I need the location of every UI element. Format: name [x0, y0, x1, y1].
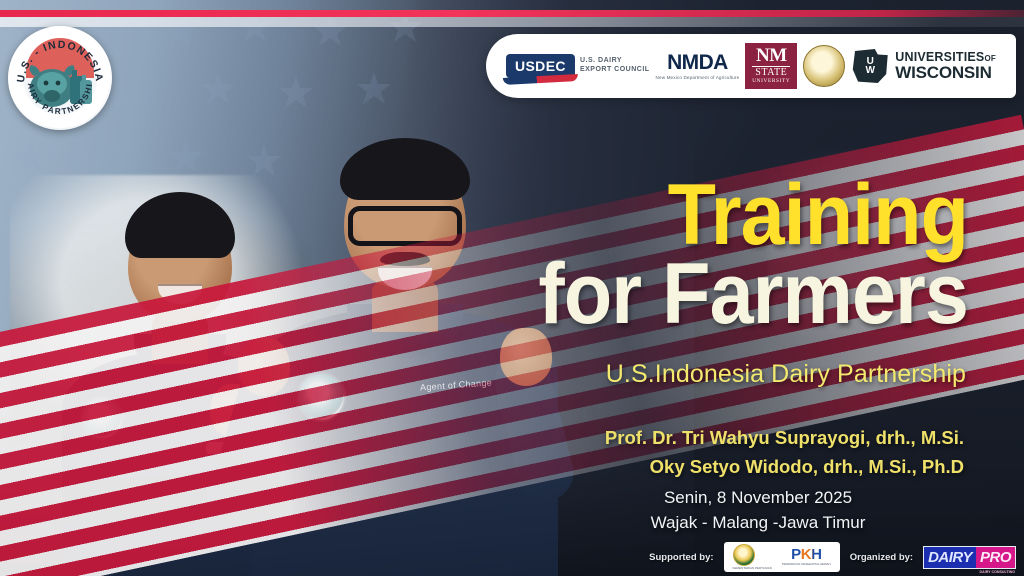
usdec-mark: USDEC — [506, 54, 575, 78]
title-line-1: Training — [490, 176, 968, 255]
partner-logo-bar: USDEC U.S. DAIRY EXPORT COUNCIL NMDA New… — [486, 34, 1016, 98]
kementerian-pertanian-seal: KEMENTERIAN PERTANIAN — [733, 544, 772, 570]
new-mexico-state-seal — [803, 45, 845, 87]
uw-wordmark: UNIVERSITIESOF WISCONSIN — [895, 51, 996, 81]
supported-by-label: Supported by: — [649, 552, 713, 563]
nmsu-line2: STATE — [752, 66, 790, 78]
speaker-name-2: Oky Setyo Widodo, drh., M.Si., Ph.D — [605, 453, 964, 482]
usdec-subtitle-line1: U.S. DAIRY — [580, 57, 650, 66]
usdec-subtitle-line2: EXPORT COUNCIL — [580, 66, 650, 75]
speaker-list: Prof. Dr. Tri Wahyu Suprayogi, drh., M.S… — [605, 424, 964, 481]
pkh-logo: PKH PENDIDIKAN KESEHATAN HEWAN — [782, 547, 831, 566]
us-indonesia-dairy-partnership-seal: U.S. - INDONESIA DAIRY PARTNERSHIP — [8, 26, 112, 130]
logo-nmsu: NM STATE UNIVERSITY — [745, 43, 797, 88]
dairypro-tagline: DAIRY CONSULTING — [980, 571, 1015, 575]
usdec-swoosh-icon — [503, 74, 578, 85]
uw-mark-bottom: W — [866, 66, 875, 76]
uw-of: OF — [984, 54, 996, 63]
event-promo-banner: Agent of Change — [0, 0, 1024, 576]
event-details: Senin, 8 November 2025 Wajak - Malang -J… — [598, 486, 918, 535]
dairypro-part1: DAIRY — [924, 547, 976, 568]
subtitle: U.S.Indonesia Dairy Partnership — [606, 360, 966, 389]
organized-by-label: Organized by: — [850, 552, 913, 563]
nmda-mark-text: NMDA — [656, 52, 740, 73]
top-red-stripe — [0, 10, 1024, 17]
hair-left — [125, 192, 235, 258]
uw-state-shape-icon: U W — [851, 49, 889, 83]
title-line-2: for Farmers — [490, 255, 968, 334]
usdec-subtitle: U.S. DAIRY EXPORT COUNCIL — [580, 57, 650, 75]
supported-by-logos: KEMENTERIAN PERTANIAN PKH PENDIDIKAN KES… — [724, 542, 840, 572]
logo-usdec: USDEC U.S. DAIRY EXPORT COUNCIL — [506, 54, 650, 78]
usdec-mark-text: USDEC — [515, 58, 566, 74]
dairypro-logo: DAIRY PRO DAIRY CONSULTING — [923, 546, 1016, 569]
top-white-stripe — [0, 17, 1024, 27]
uw-line2: WISCONSIN — [895, 64, 996, 81]
footer-credits: Supported by: KEMENTERIAN PERTANIAN PKH … — [649, 542, 1016, 572]
logo-nmda: NMDA New Mexico Department of Agricultur… — [656, 52, 740, 80]
speaker-name-1: Prof. Dr. Tri Wahyu Suprayogi, drh., M.S… — [605, 424, 964, 453]
dairypro-part2: PRO — [976, 547, 1015, 568]
main-title: Training for Farmers — [448, 176, 968, 334]
pkh-mark-text: PKH — [782, 547, 831, 562]
event-location: Wajak - Malang -Jawa Timur — [598, 511, 918, 536]
pkh-caption: PENDIDIKAN KESEHATAN HEWAN — [782, 563, 831, 566]
nmda-subtitle: New Mexico Department of Agriculture — [656, 75, 740, 80]
event-date: Senin, 8 November 2025 — [598, 486, 918, 511]
kementerian-pertanian-caption: KEMENTERIAN PERTANIAN — [733, 567, 772, 570]
nmsu-line3: UNIVERSITY — [752, 79, 790, 84]
logo-universities-of-wisconsin: U W UNIVERSITIESOF WISCONSIN — [851, 49, 996, 83]
nmsu-line1: NM — [752, 46, 790, 65]
